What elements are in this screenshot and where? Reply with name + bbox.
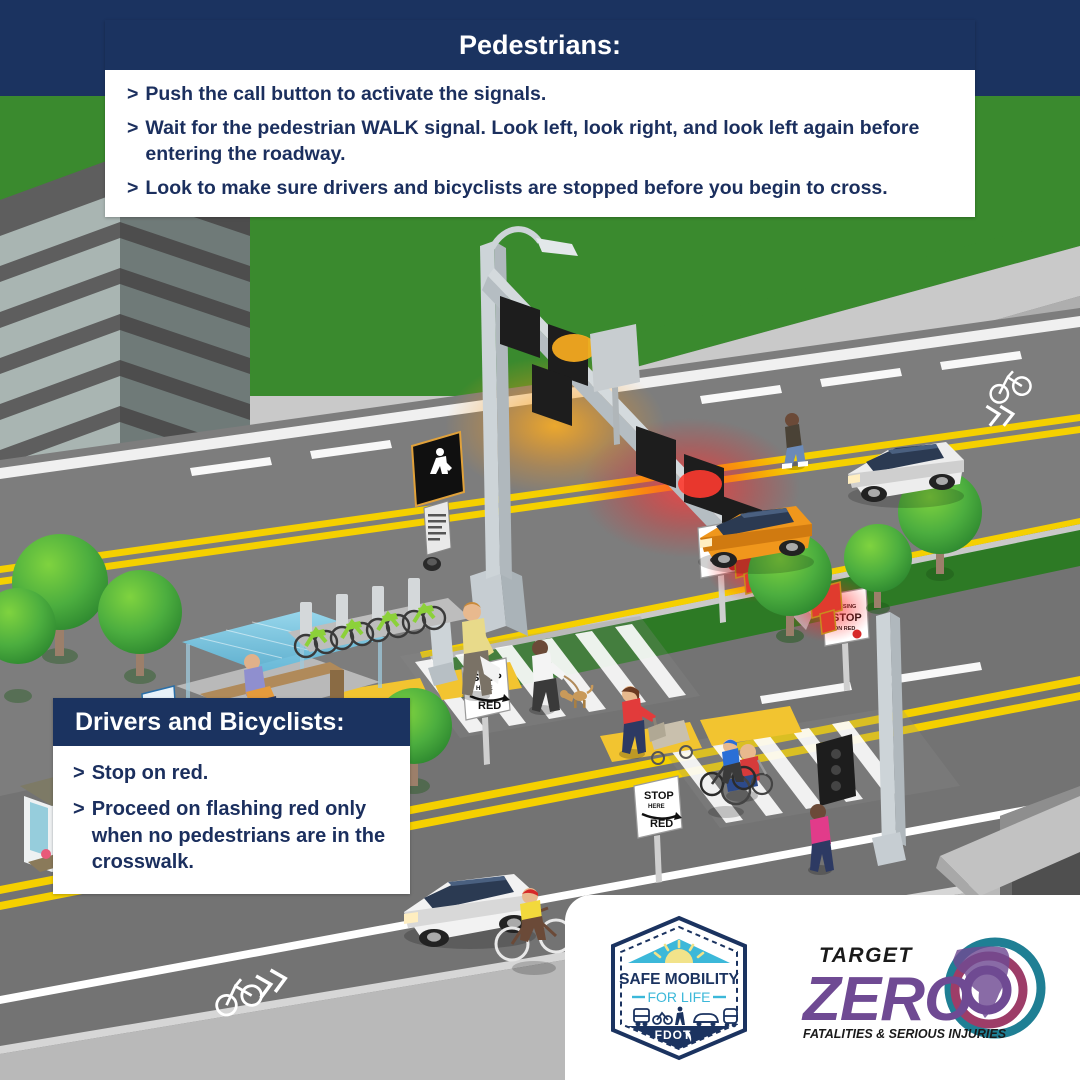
pedestrians-panel-body: > Push the call button to activate the s… bbox=[105, 70, 975, 217]
drivers-bullet-1: > Stop on red. bbox=[73, 760, 394, 786]
smfl-line1: SAFE MOBILITY bbox=[619, 971, 739, 988]
bullet-marker: > bbox=[127, 176, 138, 201]
fdot-wordmark: FDOT bbox=[654, 1028, 691, 1042]
pedestrians-bullet-1-text: Push the call button to activate the sig… bbox=[145, 82, 546, 107]
drivers-panel-heading: Drivers and Bicyclists: bbox=[75, 708, 345, 737]
pedestrians-bullet-3: > Look to make sure drivers and bicyclis… bbox=[127, 176, 955, 201]
svg-text:RED: RED bbox=[650, 818, 673, 830]
drivers-bullet-1-text: Stop on red. bbox=[92, 760, 209, 786]
pedestrians-bullet-1: > Push the call button to activate the s… bbox=[127, 82, 955, 107]
svg-text:RED: RED bbox=[478, 700, 501, 712]
pedestrians-bullet-2-text: Wait for the pedestrian WALK signal. Loo… bbox=[145, 116, 955, 167]
bullet-marker: > bbox=[127, 82, 138, 107]
pedestrians-panel-heading: Pedestrians: bbox=[459, 30, 621, 61]
pedestrians-info-panel: Pedestrians: > Push the call button to a… bbox=[105, 20, 975, 217]
infographic-page: Midblock Pedestrian Crossing with a PHB bbox=[0, 0, 1080, 1080]
drivers-panel-header: Drivers and Bicyclists: bbox=[53, 698, 410, 746]
train-icon bbox=[724, 1009, 737, 1026]
bullet-marker: > bbox=[73, 760, 85, 786]
pedestrian-call-button bbox=[423, 557, 441, 571]
bullet-marker: > bbox=[73, 796, 85, 822]
target-zero-line1: TARGET bbox=[819, 944, 913, 967]
footer-logo-bar: SAFE MOBILITY FOR LIFE FDOT bbox=[565, 895, 1080, 1080]
svg-text:HERE: HERE bbox=[648, 804, 665, 810]
bicycle-icon bbox=[653, 1013, 672, 1024]
target-zero-line2: ZERO bbox=[801, 965, 972, 1034]
drivers-bullet-2-text: Proceed on flashing red only when no ped… bbox=[92, 796, 394, 875]
safe-mobility-for-life-logo: SAFE MOBILITY FOR LIFE FDOT bbox=[595, 913, 763, 1063]
drivers-bullet-2: > Proceed on flashing red only when no p… bbox=[73, 796, 394, 875]
target-zero-tagline: FATALITIES & SERIOUS INJURIES bbox=[803, 1027, 1007, 1041]
pedestrians-bullet-3-text: Look to make sure drivers and bicyclists… bbox=[145, 176, 887, 201]
drivers-bicyclists-info-panel: Drivers and Bicyclists: > Stop on red. >… bbox=[53, 698, 410, 894]
car-icon bbox=[694, 1014, 718, 1026]
pedestrians-bullet-2: > Wait for the pedestrian WALK signal. L… bbox=[127, 116, 955, 167]
target-zero-logo: TARGET ZERO FATALITIES & SERIOUS INJURIE… bbox=[789, 928, 1051, 1048]
bus-icon bbox=[634, 1009, 649, 1026]
bullet-marker: > bbox=[127, 116, 138, 141]
svg-text:STOP: STOP bbox=[644, 790, 674, 802]
pedestrians-panel-header: Pedestrians: bbox=[105, 20, 975, 70]
smfl-line2: FOR LIFE bbox=[647, 989, 710, 1005]
drivers-panel-body: > Stop on red. > Proceed on flashing red… bbox=[53, 746, 410, 894]
